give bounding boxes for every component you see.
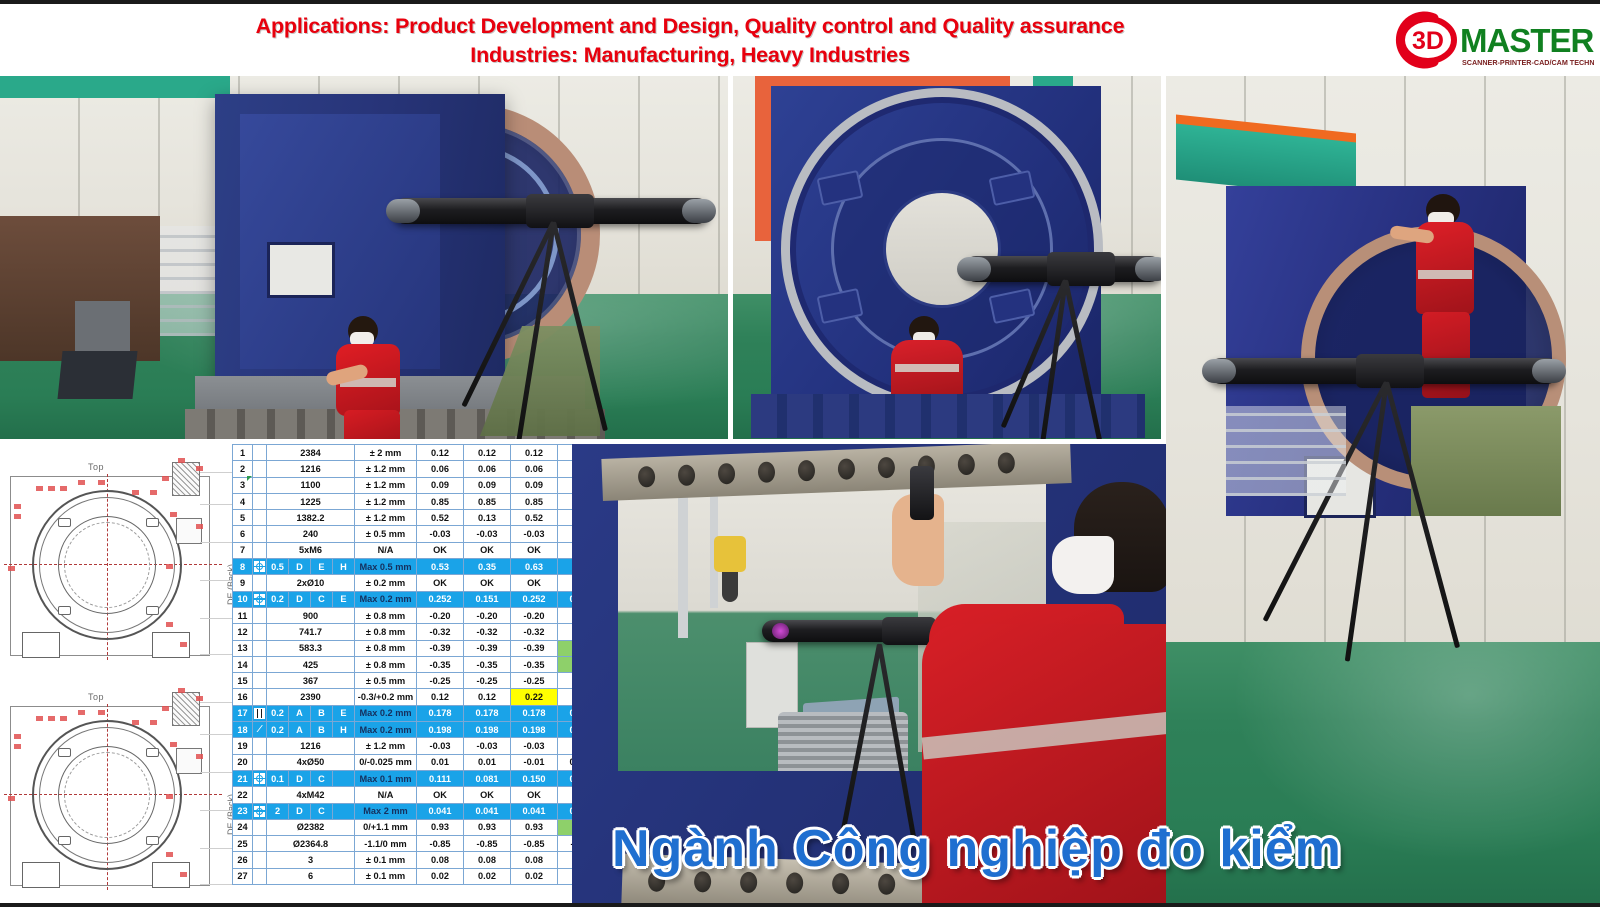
tolerance-cell: ± 0.1 mm [355, 852, 417, 868]
measurement-2-cell: 0.13 [464, 510, 511, 526]
spacer-cell [253, 575, 267, 591]
nominal-cell: 1100 [267, 477, 355, 493]
tolerance-cell: ± 0.8 mm [355, 640, 417, 656]
table-row[interactable]: 21216± 1.2 mm0.060.060.060.06 [233, 461, 573, 477]
measurement-4-cell: OK [558, 575, 573, 591]
measurement-3-cell: -0.85 [511, 836, 558, 852]
datum-1-cell: D [289, 559, 311, 575]
measurement-3-cell: 0.63 [511, 559, 558, 575]
photo-c-tripod [1384, 382, 1386, 383]
logo-master-text: MASTER [1460, 22, 1594, 59]
table-row[interactable]: 13583.3± 0.8 mm-0.39-0.39-0.390.43 [233, 640, 573, 656]
tolerance-cell: ± 1.2 mm [355, 493, 417, 509]
table-row[interactable]: 11900± 0.8 mm-0.20-0.20-0.200.15 [233, 607, 573, 623]
row-index: 26 [233, 852, 253, 868]
measurement-3-cell: 0.150 [511, 770, 558, 786]
table-row[interactable]: 92xØ10± 0.2 mmOKOKOKOK [233, 575, 573, 591]
nominal-cell: 1216 [267, 461, 355, 477]
position-tolerance-icon [254, 773, 265, 784]
drawing-view-2: Top DE (Back) [0, 676, 232, 904]
spacer-cell [253, 656, 267, 672]
table-row[interactable]: 14425± 0.8 mm-0.35-0.35-0.350.43 [233, 656, 573, 672]
table-row[interactable]: 24Ø23820/+1.1 mm0.930.930.931.22 [233, 819, 573, 835]
measurement-1-cell: -0.35 [417, 656, 464, 672]
logo-svg: 3D MASTER SCANNER-PRINTER-CAD/CAM TECHNO… [1384, 8, 1594, 72]
measurement-table: 12384± 2 mm0.120.120.120.1221216± 1.2 mm… [232, 444, 572, 885]
header-bar: Applications: Product Development and De… [0, 4, 1600, 76]
row-index: 1 [233, 445, 253, 461]
measurement-3-cell: -0.39 [511, 640, 558, 656]
measurement-3-cell: 0.252 [511, 591, 558, 607]
photo-d-hoist [714, 536, 746, 572]
measurement-1-cell: 0.01 [417, 754, 464, 770]
row-index: 5 [233, 510, 253, 526]
table-row[interactable]: 224xM42N/AOKOKOKok [233, 787, 573, 803]
table-row[interactable]: 41225± 1.2 mm0.850.850.850.52 [233, 493, 573, 509]
nominal-cell: 3 [267, 852, 355, 868]
row-index: 16 [233, 689, 253, 705]
nominal-cell: 4xØ50 [267, 754, 355, 770]
table-row[interactable]: 204xØ500/-0.025 mm0.010.01-0.010.016 [233, 754, 573, 770]
measurement-2-cell: -0.25 [464, 673, 511, 689]
datum-3-cell: E [333, 705, 355, 721]
nominal-cell: 425 [267, 656, 355, 672]
measurement-1-cell: 0.93 [417, 819, 464, 835]
tolerance-cell: Max 0.1 mm [355, 770, 417, 786]
table-row[interactable]: 100.2DCEMax 0.2 mm0.2520.1510.2520.252 [233, 591, 573, 607]
gdt-symbol-cell: ∕ [253, 722, 267, 738]
spacer-cell [253, 607, 267, 623]
tolerance-cell: ± 1.2 mm [355, 477, 417, 493]
photo-d-motor-housing [778, 712, 908, 771]
row-index: 22 [233, 787, 253, 803]
table-row[interactable]: 191216± 1.2 mm-0.03-0.03-0.030.55 [233, 738, 573, 754]
nominal-cell: Ø2364.8 [267, 836, 355, 852]
datum-1-cell: D [289, 803, 311, 819]
photo-a-laptop [57, 351, 137, 399]
measurement-3-cell: 0.12 [511, 445, 558, 461]
gdt-value-cell: 2 [267, 803, 289, 819]
measurement-4-cell: OK [558, 542, 573, 558]
table-row[interactable]: 15367± 0.5 mm-0.25-0.25-0.250.21 [233, 673, 573, 689]
gdt-value-cell: 0.1 [267, 770, 289, 786]
measurement-1-cell: 0.09 [417, 477, 464, 493]
photo-a-tripod [551, 222, 553, 223]
photo-top-middle [733, 76, 1161, 439]
measurement-1-cell: -0.03 [417, 738, 464, 754]
gdt-symbol-cell [253, 591, 267, 607]
measurement-2-cell: -0.32 [464, 624, 511, 640]
tolerance-cell: ± 2 mm [355, 445, 417, 461]
datum-3-cell [333, 770, 355, 786]
measurement-table-body: 12384± 2 mm0.120.120.120.1221216± 1.2 mm… [233, 445, 573, 885]
measurement-2-cell: OK [464, 787, 511, 803]
datum-2-cell: B [311, 722, 333, 738]
measurement-3-cell: -0.32 [511, 624, 558, 640]
tolerance-cell: ± 0.5 mm [355, 673, 417, 689]
measurement-2-cell: 0.151 [464, 591, 511, 607]
measurement-4-cell: 0.924 [558, 803, 573, 819]
photo-top-left [0, 76, 728, 439]
measurement-2-cell: 0.12 [464, 689, 511, 705]
measurement-3-cell: OK [511, 787, 558, 803]
position-tolerance-icon [254, 561, 265, 572]
measurement-1-cell: -0.20 [417, 607, 464, 623]
tolerance-cell: ± 0.8 mm [355, 656, 417, 672]
tolerance-cell: Max 0.2 mm [355, 722, 417, 738]
measurement-1-cell: OK [417, 542, 464, 558]
row-index: 13 [233, 640, 253, 656]
tolerance-cell: ± 1.2 mm [355, 738, 417, 754]
technical-drawing-panel[interactable]: Top DE (Back) [0, 444, 232, 907]
table-row[interactable]: 232DCMax 2 mm0.0410.0410.0410.924 [233, 803, 573, 819]
measurement-2-cell: OK [464, 575, 511, 591]
measurement-1-cell: 0.252 [417, 591, 464, 607]
gdt-symbol-cell [253, 770, 267, 786]
measurement-1-cell: 0.111 [417, 770, 464, 786]
measurement-1-cell: -0.39 [417, 640, 464, 656]
datum-2-cell: C [311, 591, 333, 607]
measurement-3-cell: 0.93 [511, 819, 558, 835]
row-index: 7 [233, 542, 253, 558]
spacer-cell [253, 510, 267, 526]
measurement-3-cell: 0.22 [511, 689, 558, 705]
tolerance-cell: ± 0.2 mm [355, 575, 417, 591]
measurement-4-cell: 0.23 [558, 559, 573, 575]
spacer-cell [253, 445, 267, 461]
measurement-2-cell: -0.35 [464, 656, 511, 672]
measurement-3-cell: -0.03 [511, 526, 558, 542]
nominal-cell: Ø2382 [267, 819, 355, 835]
row-index: 11 [233, 607, 253, 623]
nominal-cell: 240 [267, 526, 355, 542]
measurement-1-cell: 0.06 [417, 461, 464, 477]
measurement-3-cell: -0.01 [511, 754, 558, 770]
tolerance-cell: 0/-0.025 mm [355, 754, 417, 770]
measurement-4-cell: 0.44 [558, 510, 573, 526]
measurement-3-cell: 0.08 [511, 852, 558, 868]
measurement-2-cell: 0.178 [464, 705, 511, 721]
nominal-cell: 6 [267, 868, 355, 884]
slide-root: Applications: Product Development and De… [0, 0, 1600, 907]
nominal-cell: 900 [267, 607, 355, 623]
measurement-1-cell: 0.178 [417, 705, 464, 721]
measurement-1-cell: -0.32 [417, 624, 464, 640]
datum-3-cell: H [333, 722, 355, 738]
table-row[interactable]: 162390-0.3/+0.2 mm0.120.120.220.13 [233, 689, 573, 705]
measurement-3-cell: -0.20 [511, 607, 558, 623]
gdt-symbol-cell [253, 803, 267, 819]
tolerance-cell: N/A [355, 542, 417, 558]
photo-b-scanner [963, 256, 1161, 282]
measurement-4-cell: 0.43 [558, 640, 573, 656]
tolerance-cell: Max 2 mm [355, 803, 417, 819]
row-index: 12 [233, 624, 253, 640]
measurement-2-cell: OK [464, 542, 511, 558]
header-title: Applications: Product Development and De… [90, 12, 1290, 70]
nominal-cell: 583.3 [267, 640, 355, 656]
drawing-top-label-2: Top [88, 692, 104, 702]
row-index: 21 [233, 770, 253, 786]
measurement-4-cell: 0.15 [558, 607, 573, 623]
datum-2-cell: E [311, 559, 333, 575]
measurement-1-cell: 0.02 [417, 868, 464, 884]
row-index: 19 [233, 738, 253, 754]
tolerance-cell: Max 0.5 mm [355, 559, 417, 575]
tolerance-cell: ± 0.5 mm [355, 526, 417, 542]
tolerance-cell: Max 0.2 mm [355, 705, 417, 721]
row-index: 6 [233, 526, 253, 542]
row-index: 20 [233, 754, 253, 770]
row-index: 10 [233, 591, 253, 607]
measurement-2-cell: 0.93 [464, 819, 511, 835]
measurement-2-cell: 0.02 [464, 868, 511, 884]
table-row[interactable]: 6240± 0.5 mm-0.03-0.03-0.030.32 [233, 526, 573, 542]
measurement-4-cell: 0.43 [558, 656, 573, 672]
spacer-cell [253, 477, 267, 493]
angularity-icon: ∕ [259, 724, 261, 735]
measurement-table-panel[interactable]: 12384± 2 mm0.120.120.120.1221216± 1.2 mm… [232, 444, 572, 907]
measurement-4-cell: 0.252 [558, 591, 573, 607]
measurement-3-cell: -0.03 [511, 738, 558, 754]
datum-1-cell: A [289, 705, 311, 721]
header-line-2: Industries: Manufacturing, Heavy Industr… [90, 41, 1290, 70]
datum-1-cell: A [289, 722, 311, 738]
tolerance-cell: ± 0.8 mm [355, 607, 417, 623]
measurement-2-cell: -0.20 [464, 607, 511, 623]
measurement-3-cell: OK [511, 575, 558, 591]
nominal-cell: 1382.2 [267, 510, 355, 526]
measurement-1-cell: -0.25 [417, 673, 464, 689]
tolerance-cell: ± 0.1 mm [355, 868, 417, 884]
measurement-4-cell: 0.52 [558, 493, 573, 509]
measurement-2-cell: 0.12 [464, 445, 511, 461]
measurement-1-cell: 0.85 [417, 493, 464, 509]
brand-logo[interactable]: 3D MASTER SCANNER-PRINTER-CAD/CAM TECHNO… [1384, 8, 1594, 72]
measurement-4-cell: 1.22 [558, 819, 573, 835]
measurement-4-cell: 0.178 [558, 705, 573, 721]
measurement-3-cell: 0.02 [511, 868, 558, 884]
measurement-1-cell: 0.041 [417, 803, 464, 819]
spacer-cell [253, 689, 267, 705]
spacer-cell [253, 493, 267, 509]
nominal-cell: 1216 [267, 738, 355, 754]
table-row[interactable]: 75xM6N/AOKOKOKOK [233, 542, 573, 558]
logo-tagline: SCANNER-PRINTER-CAD/CAM TECHNOLOGIES [1462, 58, 1594, 67]
measurement-2-cell: -0.03 [464, 526, 511, 542]
logo-3d-text: 3D [1412, 27, 1444, 55]
measurement-4-cell: ok [558, 787, 573, 803]
cell-comment-marker [247, 476, 252, 481]
measurement-4-cell: 0.198 [558, 722, 573, 738]
photo-a-scanner [392, 198, 710, 224]
measurement-2-cell: 0.081 [464, 770, 511, 786]
table-row[interactable]: 18∕0.2ABHMax 0.2 mm0.1980.1980.1980.198 [233, 722, 573, 738]
row-index: 9 [233, 575, 253, 591]
nominal-cell: 5xM6 [267, 542, 355, 558]
measurement-1-cell: OK [417, 787, 464, 803]
measurement-1-cell: 0.53 [417, 559, 464, 575]
photo-d-face-mask [1052, 536, 1114, 594]
photo-b-tripod [1063, 280, 1065, 281]
measurement-3-cell: -0.35 [511, 656, 558, 672]
measurement-1-cell: -0.85 [417, 836, 464, 852]
spacer-cell [253, 852, 267, 868]
datum-3-cell [333, 803, 355, 819]
nominal-cell: 367 [267, 673, 355, 689]
table-row[interactable]: 210.1DCMax 0.1 mm0.1110.0810.1500.187 [233, 770, 573, 786]
row-index: 24 [233, 819, 253, 835]
datum-2-cell: B [311, 705, 333, 721]
measurement-4-cell: 0.02 [558, 868, 573, 884]
tolerance-cell: ± 0.8 mm [355, 624, 417, 640]
measurement-3-cell: 0.09 [511, 477, 558, 493]
measurement-2-cell: -0.39 [464, 640, 511, 656]
table-row[interactable]: 12384± 2 mm0.120.120.120.12 [233, 445, 573, 461]
measurement-2-cell: 0.08 [464, 852, 511, 868]
datum-2-cell: C [311, 770, 333, 786]
table-row[interactable]: 31100± 1.2 mm0.090.090.090.09 [233, 477, 573, 493]
tolerance-cell: 0/+1.1 mm [355, 819, 417, 835]
spacer-cell [253, 868, 267, 884]
measurement-2-cell: -0.85 [464, 836, 511, 852]
spacer-cell [253, 673, 267, 689]
measurement-4-cell: 0.55 [558, 738, 573, 754]
spacer-cell [253, 542, 267, 558]
spacer-cell [253, 819, 267, 835]
datum-1-cell: D [289, 591, 311, 607]
header-line-1: Applications: Product Development and De… [256, 14, 1125, 38]
measurement-4-cell: 0.32 [558, 526, 573, 542]
measurement-3-cell: -0.25 [511, 673, 558, 689]
measurement-1-cell: -0.03 [417, 526, 464, 542]
measurement-4-cell: 0.06 [558, 461, 573, 477]
datum-3-cell: H [333, 559, 355, 575]
nominal-cell: 1225 [267, 493, 355, 509]
tolerance-cell: ± 1.2 mm [355, 461, 417, 477]
measurement-2-cell: -0.03 [464, 738, 511, 754]
parallelism-icon [254, 708, 265, 719]
measurement-1-cell: OK [417, 575, 464, 591]
table-row[interactable]: 25Ø2364.8-1.1/0 mm-0.85-0.85-0.85-0.52 [233, 836, 573, 852]
spacer-cell [253, 787, 267, 803]
measurement-4-cell: 0.187 [558, 770, 573, 786]
measurement-1-cell: 0.08 [417, 852, 464, 868]
drawing-view-1: Top DE (Back) [0, 446, 232, 674]
tolerance-cell: Max 0.2 mm [355, 591, 417, 607]
row-index: 27 [233, 868, 253, 884]
datum-3-cell: E [333, 591, 355, 607]
spacer-cell [253, 738, 267, 754]
measurement-4-cell: -0.52 [558, 836, 573, 852]
measurement-4-cell: 0.13 [558, 689, 573, 705]
table-row[interactable]: 276± 0.1 mm0.020.020.020.02 [233, 868, 573, 884]
nominal-cell: 741.7 [267, 624, 355, 640]
gdt-symbol-cell [253, 559, 267, 575]
measurement-3-cell: 0.85 [511, 493, 558, 509]
measurement-1-cell: 0.198 [417, 722, 464, 738]
nominal-cell: 2xØ10 [267, 575, 355, 591]
photo-a-technician [330, 316, 422, 439]
photo-d-probe [910, 466, 934, 520]
photo-a-green-beam [0, 76, 230, 98]
spacer-cell [253, 640, 267, 656]
measurement-4-cell: 0.08 [558, 852, 573, 868]
measurement-2-cell: 0.85 [464, 493, 511, 509]
datum-1-cell: D [289, 770, 311, 786]
tolerance-cell: -1.1/0 mm [355, 836, 417, 852]
measurement-4-cell: 0.09 [558, 477, 573, 493]
drawing-top-label-1: Top [88, 462, 104, 472]
measurement-2-cell: 0.01 [464, 754, 511, 770]
measurement-4-cell: 0.16 [558, 624, 573, 640]
row-index: 4 [233, 493, 253, 509]
gdt-value-cell: 0.5 [267, 559, 289, 575]
measurement-1-cell: 0.12 [417, 689, 464, 705]
measurement-3-cell: OK [511, 542, 558, 558]
table-row[interactable]: 12741.7± 0.8 mm-0.32-0.32-0.320.16 [233, 624, 573, 640]
gdt-value-cell: 0.2 [267, 722, 289, 738]
measurement-4-cell: 0.016 [558, 754, 573, 770]
measurement-4-cell: 0.21 [558, 673, 573, 689]
gdt-value-cell: 0.2 [267, 591, 289, 607]
row-index: 18 [233, 722, 253, 738]
measurement-2-cell: 0.09 [464, 477, 511, 493]
measurement-2-cell: 0.041 [464, 803, 511, 819]
row-index: 25 [233, 836, 253, 852]
nominal-cell: 2384 [267, 445, 355, 461]
photo-right [1166, 76, 1600, 907]
row-index: 15 [233, 673, 253, 689]
spacer-cell [253, 754, 267, 770]
measurement-2-cell: 0.198 [464, 722, 511, 738]
table-row[interactable]: 170.2ABEMax 0.2 mm0.1780.1780.1780.178 [233, 705, 573, 721]
tolerance-cell: N/A [355, 787, 417, 803]
photo-c-scanner [1208, 358, 1560, 384]
tolerance-cell: ± 1.2 mm [355, 510, 417, 526]
gdt-symbol-cell [253, 705, 267, 721]
row-index: 23 [233, 803, 253, 819]
measurement-3-cell: 0.06 [511, 461, 558, 477]
table-row[interactable]: 80.5DEHMax 0.5 mm0.530.350.630.23 [233, 559, 573, 575]
row-index: 14 [233, 656, 253, 672]
measurement-1-cell: 0.52 [417, 510, 464, 526]
measurement-3-cell: 0.041 [511, 803, 558, 819]
measurement-1-cell: 0.12 [417, 445, 464, 461]
row-index: 17 [233, 705, 253, 721]
photo-c-work-platform [1411, 406, 1561, 516]
gdt-value-cell: 0.2 [267, 705, 289, 721]
measurement-2-cell: 0.06 [464, 461, 511, 477]
photo-d-tripod [877, 644, 879, 645]
table-row[interactable]: 263± 0.1 mm0.080.080.080.08 [233, 852, 573, 868]
photo-b-bore [883, 190, 1001, 308]
measurement-3-cell: 0.178 [511, 705, 558, 721]
position-tolerance-icon [254, 594, 265, 605]
table-row[interactable]: 51382.2± 1.2 mm0.520.130.520.44 [233, 510, 573, 526]
nominal-cell: 2390 [267, 689, 355, 705]
position-tolerance-icon [254, 806, 265, 817]
spacer-cell [253, 461, 267, 477]
row-index: 8 [233, 559, 253, 575]
spacer-cell [253, 836, 267, 852]
measurement-4-cell: 0.12 [558, 445, 573, 461]
measurement-2-cell: 0.35 [464, 559, 511, 575]
photo-b-pallet [751, 394, 1145, 438]
photo-c-railing [1226, 406, 1346, 496]
measurement-3-cell: 0.52 [511, 510, 558, 526]
datum-2-cell: C [311, 803, 333, 819]
